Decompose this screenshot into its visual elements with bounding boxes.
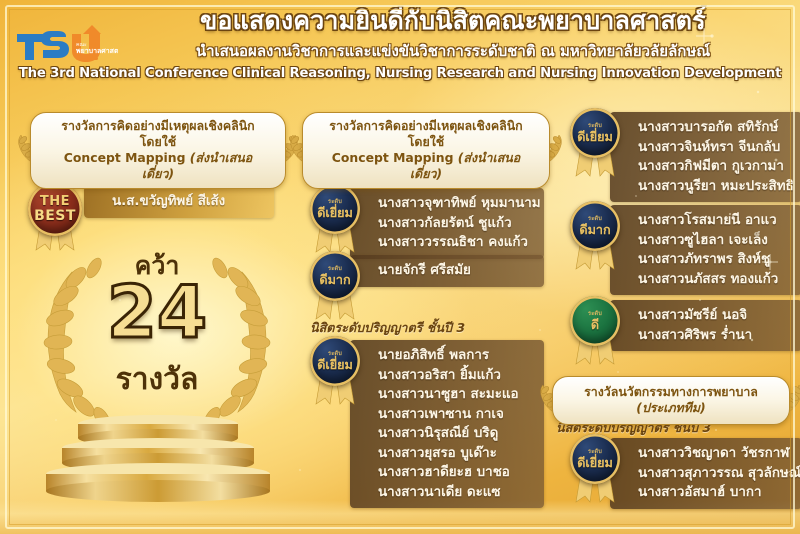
badge-good: ระดับ ดี — [566, 296, 624, 366]
page-subtitle: นำเสนอผลงานวิชาการและแข่งขันวิชาการระดับ… — [108, 42, 798, 61]
badge-disc: ระดับ ดีมาก — [310, 251, 360, 301]
banner-concept-mapping-1: รางวัลการคิดอย่างมีเหตุผลเชิงคลินิกโดยใช… — [30, 112, 286, 189]
banner-line-1-italic: (ประเภททีม) — [636, 400, 705, 415]
banner-line-2: Concept Mapping (ส่งนำเสนอเดี่ยว) — [57, 150, 259, 182]
page-title: ขอแสดงความยินดีกับนิสิตคณะพยาบาลศาสตร์ — [108, 6, 798, 36]
name-item: นางสาวสุภาวรรณ สุวลักษณ์ — [638, 464, 786, 484]
badge-verygood: ระดับ ดีมาก — [306, 251, 364, 321]
podium-icon — [36, 414, 280, 518]
conference-title-en: The 3rd National Conference Clinical Rea… — [4, 66, 796, 81]
name-item: น.ส.ขวัญทิพย์ สีเส้ง — [112, 192, 258, 212]
names-panel-col3-innovation-excellent: นางสาววิชญาดา วัชรกาฬ นางสาวสุภาวรรณ สุว… — [610, 438, 800, 509]
banner-line-2-plain: Concept Mapping — [332, 150, 458, 165]
tsu-logo: คณะ พยาบาลศาสตร์ — [14, 22, 118, 68]
name-item: นางสาวจินห์ทรา จีนกลับ — [638, 138, 786, 158]
badge-excellent: ระดับ ดีเยี่ยม — [306, 184, 364, 254]
names-panel-col3-excellent: นางสาวบารอกัต สทิรักษ์ นางสาวจินห์ทรา จี… — [610, 112, 800, 202]
trophy-unit: รางวัล — [26, 356, 288, 403]
banner-line-1-plain: รางวัลนวัตกรรมทางการพยาบาล — [584, 384, 758, 399]
header-bar: คณะ พยาบาลศาสตร์ ขอแสดงความยินดีกับนิสิต… — [0, 0, 800, 92]
names-panel-col2-year3-excellent: นายอภิสิทธิ์ พลการ นางสาวอริสา ยิ้มแก้ว … — [350, 340, 544, 508]
name-item: นางสาวนาซูฮา สะมะแอ — [378, 385, 528, 405]
name-item: นางสาววิชญาดา วัชรกาฬ — [638, 444, 786, 464]
badge-disc: ระดับ ดี — [570, 296, 620, 346]
trophy-block: คว้า 24 รางวัล — [26, 238, 288, 524]
badge-grade-label: ดีเยี่ยม — [577, 456, 613, 470]
names-panel-col3-good: นางสาวมัซรีย์ นอจิ นางสาวศิริพร ร่ำนา — [610, 300, 800, 351]
banner-line-2: Concept Mapping (ส่งนำเสนอเดี่ยว) — [329, 150, 523, 182]
name-item: นายจักรี ศรีสมัย — [378, 261, 528, 281]
badge-grade-label: ดีมาก — [319, 273, 350, 287]
badge-disc: ระดับ ดีเยี่ยม — [310, 336, 360, 386]
name-item: นางสาวนูรียา หมะประสิทธิ — [638, 177, 786, 197]
name-item: นางสาวศิริพร ร่ำนา — [638, 326, 786, 346]
badge-the-best: THE BEST — [26, 182, 84, 252]
badge-disc: ระดับ ดีเยี่ยม — [570, 434, 620, 484]
badge-grade-label: ดีเยี่ยม — [317, 206, 353, 220]
badge-disc: ระดับ ดีมาก — [570, 201, 620, 251]
badge-grade-label: ดีเยี่ยม — [577, 130, 613, 144]
names-panel-col3-verygood: นางสาวโรสมายนี อาแว นางสาวซูไฮลา เจะเล็ง… — [610, 205, 800, 295]
name-item: นางสาวบารอกัต สทิรักษ์ — [638, 118, 786, 138]
banner-line-1: รางวัลการคิดอย่างมีเหตุผลเชิงคลินิกโดยใช… — [329, 118, 523, 150]
name-item: นางสาวกิฟมีตา กูเวกามา — [638, 157, 786, 177]
name-item: นางสาวภัทราพร สิงห์ชู — [638, 250, 786, 270]
names-panel-col2-year2-verygood: นายจักรี ศรีสมัย — [350, 255, 544, 287]
badge-excellent: ระดับ ดีเยี่ยม — [306, 336, 364, 406]
name-item: นางสาวอัสมาฮ์ บากา — [638, 483, 786, 503]
name-item: นางสาวกัลยรัตน์ ชูแก้ว — [378, 214, 528, 234]
badge-best-label: BEST — [34, 209, 76, 224]
banner-pill: รางวัลการคิดอย่างมีเหตุผลเชิงคลินิกโดยใช… — [302, 112, 550, 189]
name-item: นางสาวนภัสสร ทองแก้ว — [638, 270, 786, 290]
names-panel-col2-year2-excellent: นางสาวจุฑาทิพย์ หุมมานาม นางสาวกัลยรัตน์… — [350, 188, 544, 259]
name-item: นางสาวนาเดีย ดะแซ — [378, 483, 528, 503]
badge-disc: ระดับ ดีเยี่ยม — [570, 108, 620, 158]
badge-verygood: ระดับ ดีมาก — [566, 201, 624, 271]
badge-disc: THE BEST — [28, 182, 82, 236]
badge-grade-label: ดีมาก — [579, 223, 610, 237]
banner-pill: รางวัลการคิดอย่างมีเหตุผลเชิงคลินิกโดยใช… — [30, 112, 286, 189]
banner-pill: รางวัลนวัตกรรมทางการพยาบาล (ประเภททีม) — [552, 376, 790, 425]
name-item: นางสาวมัซรีย์ นอจิ — [638, 306, 786, 326]
name-item: นางสาวจุฑาทิพย์ หุมมานาม — [378, 194, 528, 214]
subhead-col2-year3: นิสิตระดับปริญญาตรี ชั้นปี 3 — [310, 318, 465, 338]
name-item: นายอภิสิทธิ์ พลการ — [378, 346, 528, 366]
badge-grade-label: ดี — [591, 318, 599, 332]
name-item: นางสาวซูไฮลา เจะเล็ง — [638, 231, 786, 251]
badge-the-label: THE — [40, 195, 70, 209]
banner-concept-mapping-2: รางวัลการคิดอย่างมีเหตุผลเชิงคลินิกโดยใช… — [302, 112, 550, 189]
banner-innovation: รางวัลนวัตกรรมทางการพยาบาล (ประเภททีม) — [552, 376, 790, 425]
names-panel-col1-best: น.ส.ขวัญทิพย์ สีเส้ง — [84, 186, 274, 218]
name-item: นางสาวฮาดียะฮ บาชอ — [378, 463, 528, 483]
name-item: นางสาวเพาซาน กาเจ — [378, 405, 528, 425]
name-item: นางสาวโรสมายนี อาแว — [638, 211, 786, 231]
badge-excellent: ระดับ ดีเยี่ยม — [566, 108, 624, 178]
banner-line-1: รางวัลการคิดอย่างมีเหตุผลเชิงคลินิกโดยใช… — [57, 118, 259, 150]
banner-line-1: รางวัลนวัตกรรมทางการพยาบาล (ประเภททีม) — [571, 384, 771, 416]
name-item: นางสาวนิรุสณีย์ บริดู — [378, 424, 528, 444]
badge-disc: ระดับ ดีเยี่ยม — [310, 184, 360, 234]
badge-grade-label: ดีเยี่ยม — [317, 358, 353, 372]
banner-line-2-plain: Concept Mapping — [64, 150, 190, 165]
badge-excellent: ระดับ ดีเยี่ยม — [566, 434, 624, 504]
trophy-count: 24 — [26, 274, 288, 350]
name-item: นางสาวยุสรอ บูเด๊าะ — [378, 444, 528, 464]
poster-canvas: คณะ พยาบาลศาสตร์ ขอแสดงความยินดีกับนิสิต… — [0, 0, 800, 534]
name-item: นางสาวอริสา ยิ้มแก้ว — [378, 366, 528, 386]
name-item: นางสาววรรณธิชา คงแก้ว — [378, 233, 528, 253]
